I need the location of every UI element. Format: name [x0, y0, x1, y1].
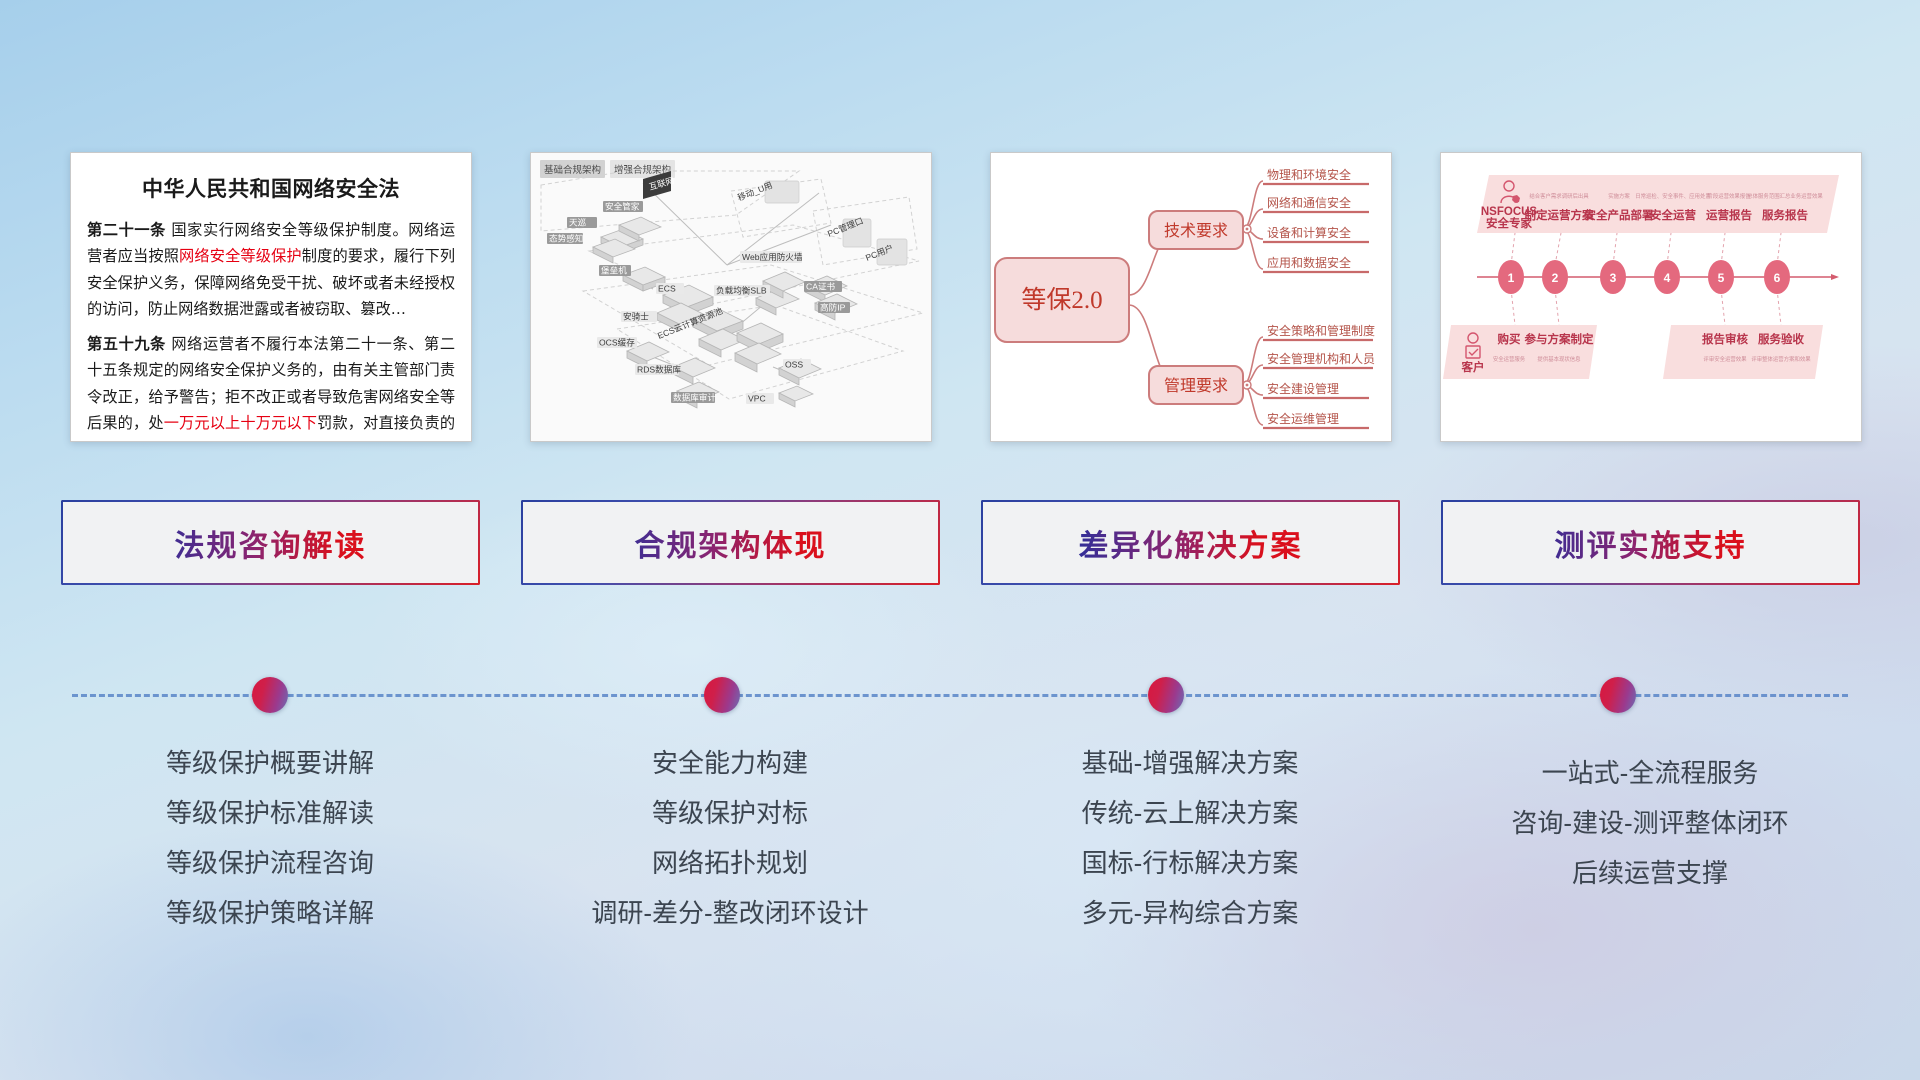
list-item: 调研-差分-整改闭环设计: [500, 888, 960, 938]
law-article-59: 第五十九条 网络运营者不履行本法第二十一条、第二十五条规定的网络安全保护义务的，…: [87, 331, 455, 442]
bullet-list-1: 等级保护概要讲解 等级保护标准解读 等级保护流程咨询 等级保护策略详解: [40, 738, 500, 938]
svg-text:6: 6: [1774, 271, 1781, 285]
law-document: 中华人民共和国网络安全法 第二十一条 国家实行网络安全等级保护制度。网络运营者应…: [71, 153, 471, 441]
step-5-top-sub: 阶段运营效果报告: [1707, 192, 1751, 200]
law-article-59-fine-1: 一万元以上十万元以下: [164, 414, 317, 432]
bullet-ul-2: 安全能力构建 等级保护对标 网络拓扑规划 调研-差分-整改闭环设计: [500, 738, 960, 938]
step-6-bottom-sub: 评审整体运营方案和效果: [1751, 355, 1811, 363]
svg-text:4: 4: [1664, 271, 1671, 285]
heading-box-1[interactable]: 法规咨询解读: [61, 500, 480, 585]
law-title: 中华人民共和国网络安全法: [87, 173, 455, 203]
mindmap-leaf: 物理和环境安全: [1267, 167, 1351, 182]
svg-text:天巡: 天巡: [569, 218, 587, 228]
heading-box-4[interactable]: 测评实施支持: [1441, 500, 1860, 585]
card-nsfocus-service-flow[interactable]: NSFOCUS 安全专家 客户: [1440, 152, 1862, 442]
step-4-top: 安全运营: [1650, 208, 1696, 222]
step-5-bottom-sub: 评审安全运营效果: [1703, 355, 1747, 363]
list-item: 等级保护策略详解: [40, 888, 500, 938]
bullet-list-2: 安全能力构建 等级保护对标 网络拓扑规划 调研-差分-整改闭环设计: [500, 738, 960, 938]
step-1-bottom-sub: 安全运营服务: [1493, 355, 1526, 363]
step-6-bottom: 服务验收: [1758, 332, 1804, 346]
law-article-59-fine-2: 五千元以上五万元以下: [163, 441, 315, 442]
law-article-21-label: 第二十一条: [87, 221, 166, 239]
svg-text:5: 5: [1718, 271, 1725, 285]
list-item: 咨询-建设-测评整体闭环: [1420, 798, 1880, 848]
mindmap-svg: 等保2.0 技术要求 管理要求 物理和环境安全 网络和通信安全 设备和计算安全 …: [991, 153, 1391, 441]
heading-box-2[interactable]: 合规架构体现: [521, 500, 940, 585]
svg-text:CA证书: CA证书: [806, 282, 836, 292]
svg-text:2: 2: [1552, 271, 1559, 285]
step-5-top: 运营报告: [1706, 208, 1752, 222]
svg-text:态势感知: 态势感知: [549, 233, 583, 244]
heading-label-2: 合规架构体现: [521, 500, 940, 585]
svg-text:数据库审计: 数据库审计: [673, 392, 716, 403]
timeline-dot-4[interactable]: [1600, 677, 1636, 713]
mindmap-leaf: 安全策略和管理制度: [1267, 323, 1375, 338]
mindmap: 等保2.0 技术要求 管理要求 物理和环境安全 网络和通信安全 设备和计算安全 …: [991, 153, 1391, 441]
heading-label-4: 测评实施支持: [1441, 500, 1860, 585]
svg-text:Web应用防火墙: Web应用防火墙: [742, 251, 803, 262]
customer-label: 客户: [1461, 360, 1485, 374]
list-item: 等级保护对标: [500, 788, 960, 838]
timeline-dot-2[interactable]: [704, 677, 740, 713]
step-1-bottom: 购买: [1498, 332, 1521, 346]
column-3: 等保2.0 技术要求 管理要求 物理和环境安全 网络和通信安全 设备和计算安全 …: [960, 0, 1420, 1080]
list-item: 多元-异构综合方案: [960, 888, 1420, 938]
svg-text:安全管家: 安全管家: [605, 201, 640, 212]
svg-text:RDS数据库: RDS数据库: [637, 364, 681, 375]
law-article-59-text-c: 罚款。: [315, 441, 361, 442]
svg-text:OSS: OSS: [785, 360, 803, 370]
heading-label-3: 差异化解决方案: [981, 500, 1400, 585]
svg-text:安骑士: 安骑士: [623, 311, 649, 322]
list-item: 一站式-全流程服务: [1420, 748, 1880, 798]
law-article-21: 第二十一条 国家实行网络安全等级保护制度。网络运营者应当按照网络安全等级保护制度…: [87, 217, 455, 323]
heading-box-3[interactable]: 差异化解决方案: [981, 500, 1400, 585]
step-2-bottom: 参与方案制定: [1524, 332, 1594, 346]
list-item: 基础-增强解决方案: [960, 738, 1420, 788]
card-mindmap-dengbao[interactable]: 等保2.0 技术要求 管理要求 物理和环境安全 网络和通信安全 设备和计算安全 …: [990, 152, 1392, 442]
heading-plate-1: 法规咨询解读: [61, 500, 480, 585]
bullet-ul-3: 基础-增强解决方案 传统-云上解决方案 国标-行标解决方案 多元-异构综合方案: [960, 738, 1420, 938]
svg-text:1: 1: [1508, 271, 1515, 285]
mindmap-leaf: 安全运维管理: [1267, 411, 1339, 426]
architecture-svg: 互联网 态势感知 天巡 安全管家 堡垒机 安骑士 ECS OCS缓存 RDS数据…: [531, 153, 931, 441]
timeline-dashed-line: [72, 694, 1848, 697]
heading-plate-3: 差异化解决方案: [981, 500, 1400, 585]
mindmap-branch-1-label: 技术要求: [1164, 222, 1228, 240]
svg-text:ECS: ECS: [658, 284, 676, 294]
card-cybersecurity-law[interactable]: 中华人民共和国网络安全法 第二十一条 国家实行网络安全等级保护制度。网络运营者应…: [70, 152, 472, 442]
list-item: 等级保护标准解读: [40, 788, 500, 838]
mindmap-leaf: 安全管理机构和人员: [1267, 351, 1375, 366]
svg-text:VPC: VPC: [748, 394, 766, 404]
list-item: 国标-行标解决方案: [960, 838, 1420, 888]
list-item: 等级保护流程咨询: [40, 838, 500, 888]
node-labels: 态势感知 天巡 安全管家 堡垒机 安骑士 ECS OCS缓存 RDS数据库 数据…: [547, 179, 895, 404]
list-item: 传统-云上解决方案: [960, 788, 1420, 838]
column-4: NSFOCUS 安全专家 客户: [1420, 0, 1880, 1080]
svg-text:3: 3: [1610, 271, 1617, 285]
svg-text:堡垒机: 堡垒机: [601, 265, 627, 276]
column-2: 基础合规架构 增强合规架构: [500, 0, 960, 1080]
bullet-ul-4: 一站式-全流程服务 咨询-建设-测评整体闭环 后续运营支撑: [1420, 748, 1880, 898]
bullet-list-4: 一站式-全流程服务 咨询-建设-测评整体闭环 后续运营支撑: [1420, 748, 1880, 898]
step-3-top: 安全产品部署: [1585, 208, 1654, 222]
step-2-bottom-sub: 提供基本现状信息: [1537, 355, 1581, 363]
list-item: 等级保护概要讲解: [40, 738, 500, 788]
mindmap-root-label: 等保2.0: [1021, 286, 1102, 314]
slide-stage: 中华人民共和国网络安全法 第二十一条 国家实行网络安全等级保护制度。网络运营者应…: [0, 0, 1920, 1080]
step-3-top-sub: 实施方案: [1608, 192, 1630, 200]
nsfocus-svg: NSFOCUS 安全专家 客户: [1441, 153, 1861, 441]
law-article-21-highlight: 网络安全等级保护: [179, 247, 302, 265]
architecture-diagram: 基础合规架构 增强合规架构: [531, 153, 931, 441]
svg-text:负载均衡SLB: 负载均衡SLB: [716, 285, 767, 296]
list-item: 安全能力构建: [500, 738, 960, 788]
step-6-top: 服务报告: [1762, 208, 1808, 222]
list-item: 网络拓扑规划: [500, 838, 960, 888]
column-1: 中华人民共和国网络安全法 第二十一条 国家实行网络安全等级保护制度。网络运营者应…: [40, 0, 500, 1080]
svg-text:OCS缓存: OCS缓存: [599, 337, 635, 348]
mindmap-branch-2-label: 管理要求: [1164, 377, 1228, 395]
timeline-dot-1[interactable]: [252, 677, 288, 713]
heading-plate-4: 测评实施支持: [1441, 500, 1860, 585]
step-4-top-sub: 日常巡检、安全事件、应用处置: [1635, 192, 1711, 200]
heading-plate-2: 合规架构体现: [521, 500, 940, 585]
mindmap-leaf: 网络和通信安全: [1267, 195, 1351, 210]
timeline-dot-3[interactable]: [1148, 677, 1184, 713]
nsfocus-flow: NSFOCUS 安全专家 客户: [1441, 153, 1861, 441]
mindmap-leaf: 设备和计算安全: [1267, 225, 1351, 240]
list-item: 后续运营支撑: [1420, 848, 1880, 898]
mindmap-leaf: 安全建设管理: [1267, 381, 1339, 396]
bullet-ul-1: 等级保护概要讲解 等级保护标准解读 等级保护流程咨询 等级保护策略详解: [40, 738, 500, 938]
mindmap-leaf: 应用和数据安全: [1267, 255, 1351, 270]
svg-text:高防IP: 高防IP: [820, 302, 846, 313]
law-article-59-label: 第五十九条: [87, 335, 166, 353]
step-2-top-sub: 结合客户需求调研后出具: [1529, 192, 1589, 200]
step-6-top-sub: 总体服务范围汇总业务运营效果: [1747, 192, 1823, 200]
bullet-list-3: 基础-增强解决方案 传统-云上解决方案 国标-行标解决方案 多元-异构综合方案: [960, 738, 1420, 938]
card-compliance-architecture[interactable]: 基础合规架构 增强合规架构: [530, 152, 932, 442]
heading-label-1: 法规咨询解读: [61, 500, 480, 585]
step-5-bottom: 报告审核: [1702, 332, 1748, 346]
